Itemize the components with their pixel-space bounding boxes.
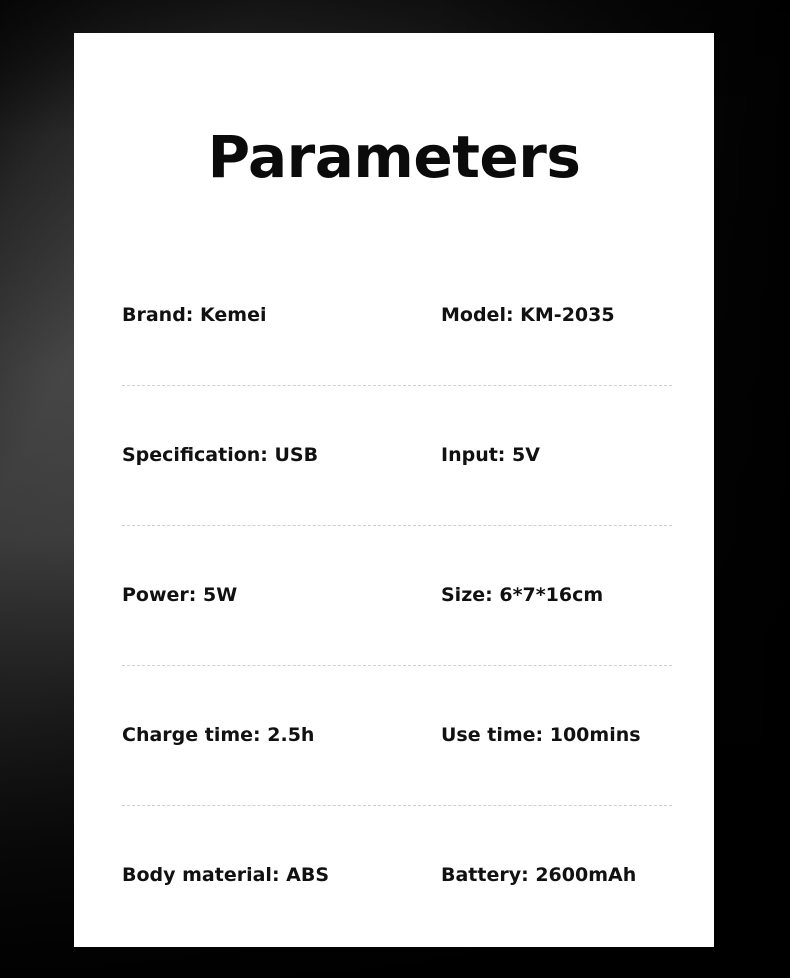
table-row: Power: 5W Size: 6*7*16cm: [122, 561, 672, 630]
dashed-divider: [122, 525, 672, 526]
spec-power: Power: 5W: [122, 584, 441, 607]
spec-size: Size: 6*7*16cm: [441, 584, 672, 607]
row-separator: [122, 770, 672, 841]
spec-model: Model: KM-2035: [441, 304, 672, 327]
product-parameters-page: Parameters Brand: Kemei Model: KM-2035 S…: [0, 0, 790, 978]
spec-specification: Specification: USB: [122, 444, 441, 467]
table-row: Specification: USB Input: 5V: [122, 421, 672, 490]
dashed-divider: [122, 385, 672, 386]
dashed-divider: [122, 665, 672, 666]
spec-input: Input: 5V: [441, 444, 672, 467]
spec-use-time: Use time: 100mins: [441, 724, 672, 747]
specifications-table: Brand: Kemei Model: KM-2035 Specificatio…: [122, 281, 672, 910]
parameters-card: Parameters Brand: Kemei Model: KM-2035 S…: [74, 33, 714, 947]
row-separator: [122, 490, 672, 561]
spec-charge-time: Charge time: 2.5h: [122, 724, 441, 747]
table-row: Brand: Kemei Model: KM-2035: [122, 281, 672, 350]
spec-body-material: Body material: ABS: [122, 864, 441, 887]
page-title: Parameters: [74, 128, 714, 186]
row-separator: [122, 350, 672, 421]
table-row: Body material: ABS Battery: 2600mAh: [122, 841, 672, 910]
table-row: Charge time: 2.5h Use time: 100mins: [122, 701, 672, 770]
dashed-divider: [122, 805, 672, 806]
spec-brand: Brand: Kemei: [122, 304, 441, 327]
row-separator: [122, 630, 672, 701]
spec-battery: Battery: 2600mAh: [441, 864, 672, 887]
